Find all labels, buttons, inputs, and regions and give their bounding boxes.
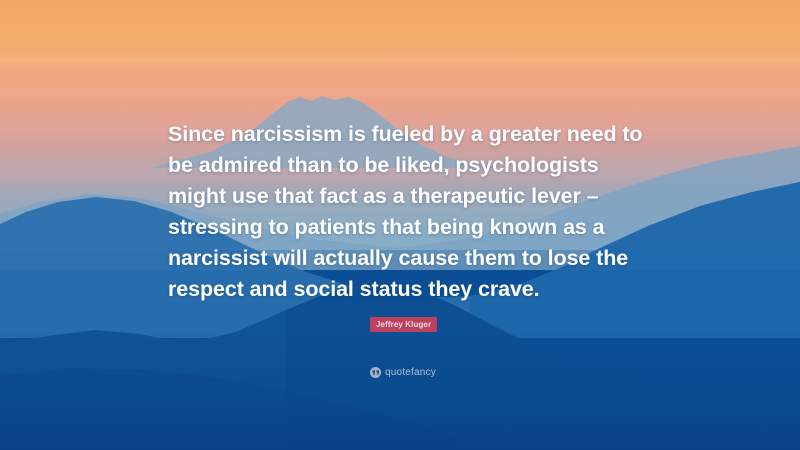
quote-image-canvas: Since narcissism is fueled by a greater … [0,0,800,450]
quote-line-2: be admired than to be liked, psychologis… [168,150,638,181]
quote-text: Since narcissism is fueled by a greater … [168,119,638,305]
quote-line-3: might use that fact as a therapeutic lev… [168,181,638,212]
quote-line-6: respect and social status they crave. [168,274,638,305]
quote-line-1: Since narcissism is fueled by a greater … [168,119,638,150]
author-name: Jeffrey Kluger [376,320,431,329]
sky-cloud-band-1 [0,52,800,68]
author-badge[interactable]: Jeffrey Kluger [370,317,437,332]
quote-line-5: narcissist will actually cause them to l… [168,243,638,274]
bottom-haze-overlay [0,330,800,450]
quote-marks-icon [370,367,381,378]
quote-line-4: stressing to patients that being known a… [168,212,638,243]
watermark-brand-text: quotefancy [385,367,436,378]
quotefancy-watermark[interactable]: quotefancy [370,367,436,378]
